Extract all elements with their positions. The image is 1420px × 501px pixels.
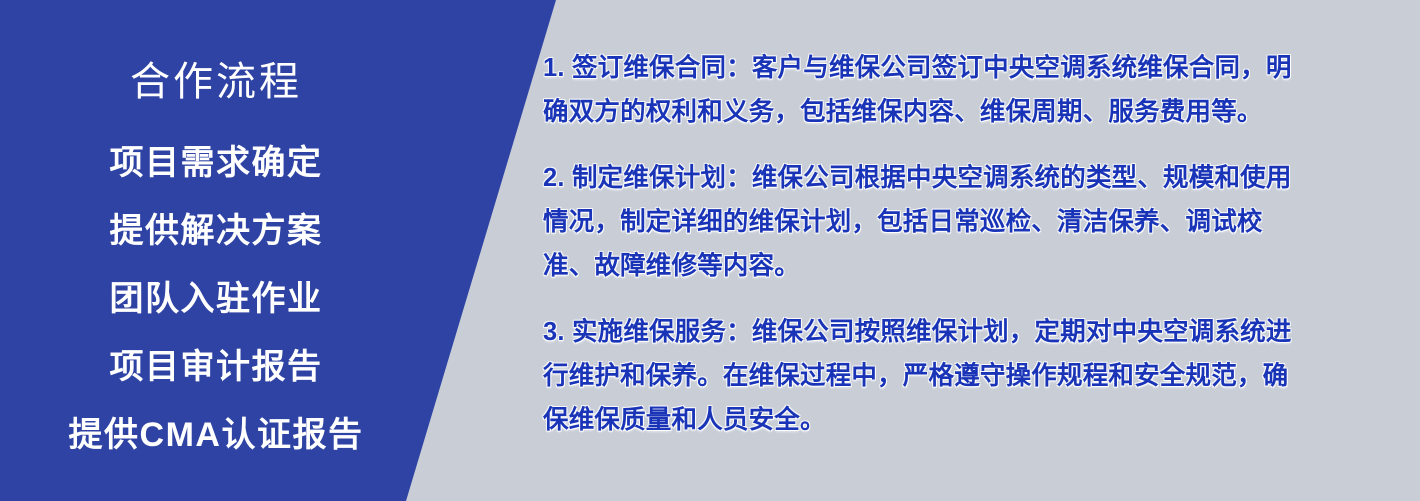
list-item[interactable]: 项目审计报告 bbox=[0, 333, 432, 401]
list-item[interactable]: 团队入驻作业 bbox=[0, 265, 432, 333]
list-item[interactable]: 提供解决方案 bbox=[0, 197, 432, 265]
paragraph-step-3: 3. 实施维保服务：维保公司按照维保计划，定期对中央空调系统进 行维护和保养。在… bbox=[543, 310, 1393, 442]
maintenance-details-panel: 1. 签订维保合同：客户与维保公司签订中央空调系统维保合同，明 确双方的权利和义… bbox=[543, 46, 1393, 442]
page-title: 合作流程 bbox=[0, 59, 432, 105]
paragraph-step-1: 1. 签订维保合同：客户与维保公司签订中央空调系统维保合同，明 确双方的权利和义… bbox=[543, 46, 1393, 134]
slide-canvas: 合作流程 项目需求确定 提供解决方案 团队入驻作业 项目审计报告 提供CMA认证… bbox=[0, 0, 1420, 501]
cooperation-flow-panel: 合作流程 项目需求确定 提供解决方案 团队入驻作业 项目审计报告 提供CMA认证… bbox=[0, 0, 432, 501]
list-item[interactable]: 提供CMA认证报告 bbox=[0, 401, 432, 469]
paragraph-step-2: 2. 制定维保计划：维保公司根据中央空调系统的类型、规模和使用 情况，制定详细的… bbox=[543, 156, 1393, 288]
list-item[interactable]: 项目需求确定 bbox=[0, 129, 432, 197]
flow-step-list: 项目需求确定 提供解决方案 团队入驻作业 项目审计报告 提供CMA认证报告 bbox=[0, 129, 432, 469]
